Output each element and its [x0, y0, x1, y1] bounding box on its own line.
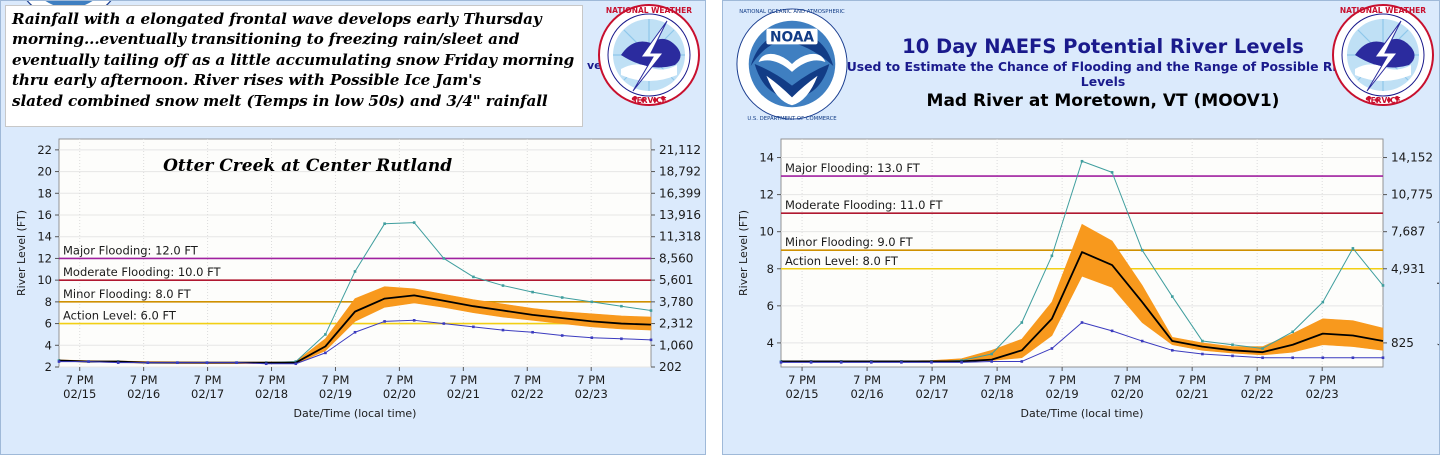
svg-text:7 PM: 7 PM: [1048, 373, 1076, 387]
svg-text:NOAA: NOAA: [770, 29, 814, 45]
site-name: Mad River at Moretown, VT (MOOV1): [843, 91, 1363, 111]
svg-text:12: 12: [37, 251, 52, 265]
svg-text:02/16: 02/16: [127, 387, 160, 401]
svg-text:02/15: 02/15: [785, 387, 818, 401]
note-line: slated combined snow melt (Temps in low …: [12, 91, 576, 111]
svg-text:02/21: 02/21: [447, 387, 480, 401]
svg-text:12: 12: [759, 188, 774, 202]
svg-text:21,112: 21,112: [659, 143, 701, 157]
svg-text:02/22: 02/22: [511, 387, 544, 401]
svg-text:Otter Creek at Center Rutland: Otter Creek at Center Rutland: [163, 156, 452, 176]
svg-text:02/21: 02/21: [1176, 387, 1209, 401]
svg-text:02/17: 02/17: [916, 387, 949, 401]
svg-text:Minor Flooding: 8.0 FT: Minor Flooding: 8.0 FT: [63, 287, 192, 301]
svg-text:7 PM: 7 PM: [918, 373, 946, 387]
svg-text:River Level (FT): River Level (FT): [15, 210, 28, 296]
right-forecast-panel: NOAA NATIONAL OCEANIC AND ATMOSPHERIC U.…: [722, 0, 1440, 455]
svg-text:7,687: 7,687: [1391, 225, 1425, 239]
svg-text:7 PM: 7 PM: [130, 373, 158, 387]
svg-text:7 PM: 7 PM: [853, 373, 881, 387]
svg-text:10: 10: [759, 225, 774, 239]
svg-text:14: 14: [37, 230, 52, 244]
svg-text:02/20: 02/20: [1111, 387, 1144, 401]
svg-text:7 PM: 7 PM: [1113, 373, 1141, 387]
svg-text:3,780: 3,780: [659, 295, 693, 309]
svg-text:NATIONAL OCEANIC AND ATMOSPHER: NATIONAL OCEANIC AND ATMOSPHERIC: [739, 9, 845, 15]
svg-text:14: 14: [759, 151, 774, 165]
svg-text:7 PM: 7 PM: [66, 373, 94, 387]
screenshot-root: NOAA vels NATIONAL WEATHER SERVICE Rainf…: [0, 0, 1440, 455]
svg-text:U.S. DEPARTMENT OF COMMERCE: U.S. DEPARTMENT OF COMMERCE: [747, 116, 837, 122]
note-line: Rainfall with a elongated frontal wave d…: [12, 9, 576, 29]
svg-text:10: 10: [37, 273, 52, 287]
svg-text:22: 22: [37, 143, 52, 157]
svg-text:20: 20: [37, 165, 52, 179]
svg-text:11,318: 11,318: [659, 230, 701, 244]
svg-text:4: 4: [45, 338, 52, 352]
svg-text:7 PM: 7 PM: [1308, 373, 1336, 387]
nws-logo-left: NATIONAL WEATHER SERVICE: [597, 3, 701, 107]
svg-text:7 PM: 7 PM: [258, 373, 286, 387]
nws-logo-right: NATIONAL WEATHER SERVICE: [1331, 3, 1435, 107]
svg-text:7 PM: 7 PM: [385, 373, 413, 387]
svg-text:02/22: 02/22: [1241, 387, 1274, 401]
svg-text:1,060: 1,060: [659, 338, 693, 352]
svg-text:Date/Time (local time): Date/Time (local time): [1021, 407, 1144, 420]
mad-river-chart: 4681012148254,9317,68710,77514,152Major …: [723, 129, 1440, 454]
svg-text:5,601: 5,601: [659, 273, 693, 287]
svg-text:02/19: 02/19: [1046, 387, 1079, 401]
svg-text:Major Flooding: 13.0 FT: Major Flooding: 13.0 FT: [785, 161, 921, 175]
svg-text:7 PM: 7 PM: [449, 373, 477, 387]
svg-text:8: 8: [767, 262, 774, 276]
svg-text:16,399: 16,399: [659, 186, 701, 200]
svg-text:02/17: 02/17: [191, 387, 224, 401]
svg-text:02/18: 02/18: [255, 387, 288, 401]
svg-text:02/16: 02/16: [851, 387, 884, 401]
otter-creek-chart: 2468101214161820222021,0602,3123,7805,60…: [1, 129, 706, 454]
svg-text:14,152: 14,152: [1391, 151, 1433, 165]
note-line: thru early afternoon. River rises with P…: [12, 70, 576, 90]
svg-text:Major Flooding: 12.0 FT: Major Flooding: 12.0 FT: [63, 243, 199, 257]
svg-text:02/20: 02/20: [383, 387, 416, 401]
svg-text:02/15: 02/15: [63, 387, 96, 401]
svg-text:02/18: 02/18: [981, 387, 1014, 401]
svg-text:7 PM: 7 PM: [1178, 373, 1206, 387]
note-line: morning...eventually transitioning to fr…: [12, 29, 576, 49]
svg-text:825: 825: [1391, 336, 1414, 350]
panel-subtitle: Used to Estimate the Chance of Flooding …: [823, 59, 1383, 89]
svg-text:8,560: 8,560: [659, 251, 693, 265]
svg-text:Date/Time (local time): Date/Time (local time): [294, 407, 417, 420]
svg-text:2: 2: [45, 360, 52, 374]
svg-text:02/23: 02/23: [575, 387, 608, 401]
svg-text:6: 6: [45, 317, 52, 331]
left-forecast-panel: NOAA vels NATIONAL WEATHER SERVICE Rainf…: [0, 0, 706, 455]
svg-text:16: 16: [37, 208, 52, 222]
svg-text:River Level (FT): River Level (FT): [737, 210, 750, 296]
svg-text:8: 8: [45, 295, 52, 309]
svg-text:202: 202: [659, 360, 682, 374]
svg-text:Minor Flooding: 9.0 FT: Minor Flooding: 9.0 FT: [785, 235, 914, 249]
svg-text:10,775: 10,775: [1391, 188, 1433, 202]
svg-text:Action Level: 6.0 FT: Action Level: 6.0 FT: [63, 309, 177, 323]
svg-text:7 PM: 7 PM: [577, 373, 605, 387]
svg-text:4: 4: [767, 336, 774, 350]
forecast-note-box: Rainfall with a elongated frontal wave d…: [5, 5, 583, 127]
svg-text:02/23: 02/23: [1306, 387, 1339, 401]
svg-text:River Flow (cubic feet per sec: River Flow (cubic feet per second): [1436, 159, 1440, 347]
svg-text:2,312: 2,312: [659, 317, 693, 331]
note-line: eventually tailing off as a little accum…: [12, 50, 576, 70]
svg-text:Action Level: 8.0 FT: Action Level: 8.0 FT: [785, 254, 899, 268]
svg-text:7 PM: 7 PM: [1243, 373, 1271, 387]
svg-text:7 PM: 7 PM: [788, 373, 816, 387]
svg-text:Moderate Flooding: 11.0 FT: Moderate Flooding: 11.0 FT: [785, 198, 944, 212]
svg-text:18: 18: [37, 186, 52, 200]
svg-text:4,931: 4,931: [1391, 262, 1425, 276]
svg-text:18,792: 18,792: [659, 165, 701, 179]
svg-text:13,916: 13,916: [659, 208, 701, 222]
svg-text:7 PM: 7 PM: [322, 373, 350, 387]
svg-text:02/19: 02/19: [319, 387, 352, 401]
panel-title: 10 Day NAEFS Potential River Levels: [843, 35, 1363, 58]
svg-text:NATIONAL WEATHER: NATIONAL WEATHER: [1340, 6, 1426, 15]
svg-text:7 PM: 7 PM: [194, 373, 222, 387]
svg-text:NATIONAL WEATHER: NATIONAL WEATHER: [606, 6, 692, 15]
svg-text:6: 6: [767, 299, 774, 313]
svg-text:7 PM: 7 PM: [983, 373, 1011, 387]
svg-text:7 PM: 7 PM: [513, 373, 541, 387]
svg-text:Moderate Flooding: 10.0 FT: Moderate Flooding: 10.0 FT: [63, 265, 222, 279]
